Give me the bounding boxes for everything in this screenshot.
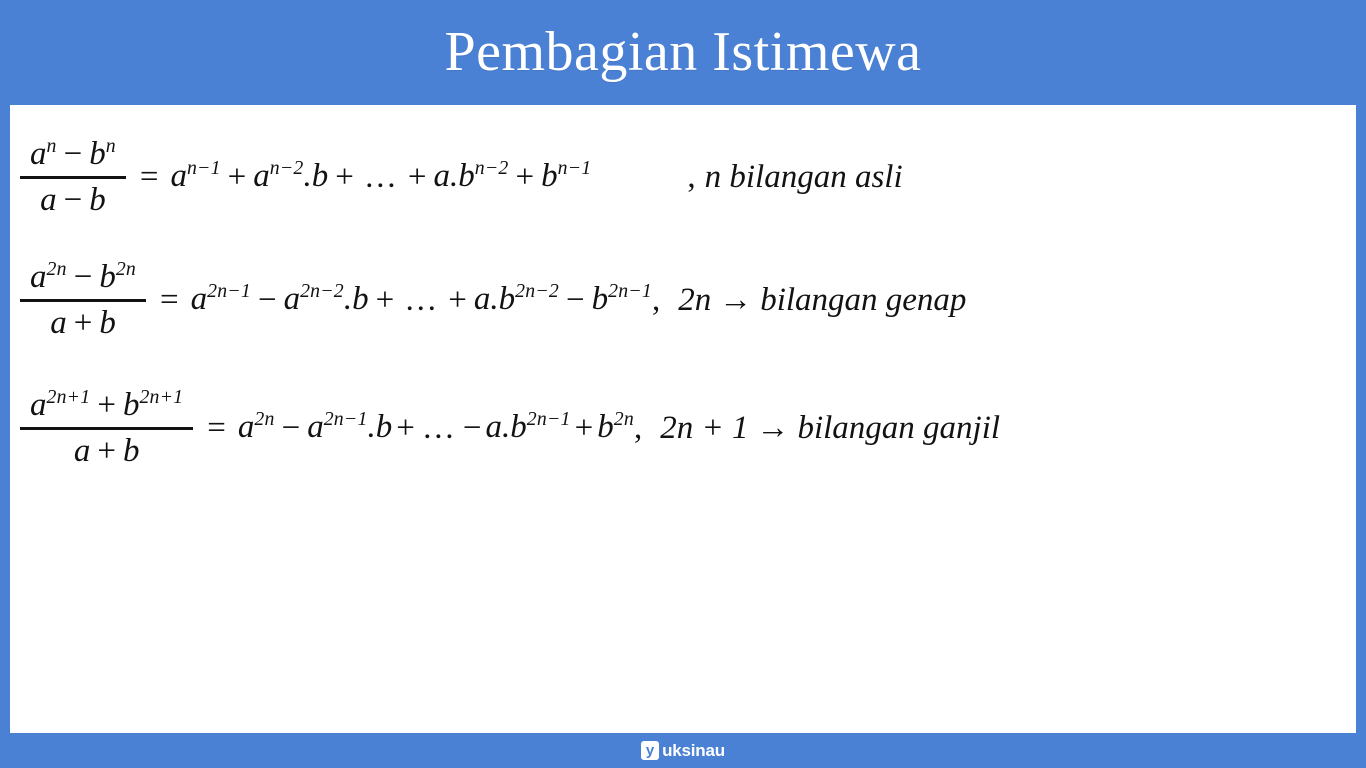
fraction-1: an−bn a−b [20, 135, 126, 220]
eq3-num-operator: + [90, 386, 123, 425]
eq3-term-4-exp: 2n [614, 408, 634, 430]
eq3-term-2-base: a [307, 409, 324, 445]
eq1-term-2-exp: n−2 [270, 157, 304, 179]
eq3-op-1: − [275, 410, 308, 447]
eq2-term-3: a.b2n−2 [474, 281, 559, 319]
eq2-term-4: b2n−1 [592, 281, 652, 319]
eq1-note: ,n bilangan asli [687, 159, 902, 196]
eq2-op-4: − [559, 282, 592, 319]
eq2-term-3-prefix: a. [474, 281, 499, 317]
page-title: Pembagian Istimewa [444, 24, 921, 80]
eq3-ellipsis: … [419, 410, 459, 447]
eq1-term-2-suffix: .b [304, 158, 329, 194]
eq2-term-4-exp: 2n−1 [608, 280, 652, 302]
eq3-term-3: a.b2n−1 [486, 409, 571, 447]
eq2-ellipsis: … [401, 282, 441, 319]
eq3-note-comma: , [634, 410, 642, 446]
eq3-note-lhs: 2n + 1 [660, 410, 748, 446]
eq2-term-2-exp: 2n−2 [300, 280, 344, 302]
fraction-3-numerator: a2n+1+b2n+1 [20, 386, 193, 425]
eq3-den-a: a [74, 433, 91, 471]
equation-list: an−bn a−b = an−1 + an−2.b + … + a.bn−2 +… [18, 118, 1348, 492]
fraction-3: a2n+1+b2n+1 a+b [20, 386, 193, 471]
eq1-den-a: a [40, 182, 57, 220]
eq3-note-text: bilangan ganjil [797, 410, 1000, 446]
eq1-term-1: an−1 [170, 158, 220, 196]
eq1-op-3: + [401, 159, 434, 196]
eq2-num-b-exp: 2n [116, 258, 136, 280]
eq2-num-operator: − [67, 258, 100, 297]
eq3-term-2-exp: 2n−1 [324, 408, 368, 430]
eq1-term-3-exp: n−2 [475, 157, 509, 179]
eq1-num-b-exp: n [106, 135, 116, 157]
fraction-2-bar [20, 299, 146, 302]
eq1-term-1-base: a [170, 158, 187, 194]
eq1-term-2-base: a [253, 158, 270, 194]
eq2-note-lhs: 2n [678, 282, 711, 318]
eq2-note-text: bilangan genap [760, 282, 966, 318]
eq1-term-4-exp: n−1 [558, 157, 592, 179]
fraction-2: a2n−b2n a+b [20, 258, 146, 343]
yuksinau-logo[interactable]: y uksinau [641, 741, 725, 760]
eq3-num-b-exp: 2n+1 [139, 386, 183, 408]
fraction-3-denominator: a+b [64, 432, 150, 471]
eq1-den-b: b [89, 182, 106, 220]
eq1-num-a: a [30, 136, 47, 172]
eq3-num-b: b [123, 387, 140, 423]
eq2-term-3-base: b [499, 281, 516, 317]
eq3-num-a-exp: 2n+1 [47, 386, 91, 408]
eq1-num-operator: − [57, 135, 90, 174]
eq3-op-2: + [392, 410, 419, 447]
eq1-op-2: + [328, 159, 361, 196]
eq2-term-2-suffix: .b [344, 281, 369, 317]
eq2-note: ,2n→bilangan genap [652, 282, 966, 319]
eq1-ellipsis: … [361, 159, 401, 196]
eq1-term-3-prefix: a. [434, 158, 459, 194]
equation-row-1: an−bn a−b = an−1 + an−2.b + … + a.bn−2 +… [18, 118, 1348, 236]
eq2-term-1: a2n−1 [191, 281, 251, 319]
eq3-term-4: b2n [597, 409, 634, 447]
eq3-term-3-exp: 2n−1 [527, 408, 571, 430]
eq3-term-4-base: b [597, 409, 614, 445]
eq2-term-1-base: a [191, 281, 208, 317]
eq1-term-3-base: b [458, 158, 475, 194]
eq1-note-text: n bilangan asli [705, 159, 903, 195]
eq1-term-1-exp: n−1 [187, 157, 221, 179]
eq3-den-operator: + [90, 432, 123, 471]
eq2-term-2: a2n−2.b [284, 281, 369, 319]
eq3-term-1: a2n [238, 409, 275, 447]
eq1-term-4-base: b [541, 158, 558, 194]
eq2-den-operator: + [67, 304, 100, 343]
equation-row-3: a2n+1+b2n+1 a+b = a2n − a2n−1.b + … − a.… [18, 364, 1348, 492]
eq3-op-4: + [571, 410, 598, 447]
eq2-num-a-exp: 2n [47, 258, 67, 280]
fraction-1-denominator: a−b [30, 181, 116, 220]
eq2-term-4-base: b [592, 281, 609, 317]
fraction-2-numerator: a2n−b2n [20, 258, 146, 297]
eq3-num-a: a [30, 387, 47, 423]
eq2-op-2: + [369, 282, 402, 319]
logo-text: uksinau [662, 742, 725, 759]
eq3-equals: = [195, 410, 238, 447]
right-arrow-icon: → [711, 282, 760, 319]
eq3-den-b: b [123, 433, 140, 471]
eq3-term-1-base: a [238, 409, 255, 445]
eq2-term-1-exp: 2n−1 [207, 280, 251, 302]
eq3-term-3-base: b [510, 409, 527, 445]
eq1-note-comma: , [687, 159, 695, 195]
equation-row-2: a2n−b2n a+b = a2n−1 − a2n−2.b + … + a.b2… [18, 236, 1348, 364]
eq1-op-1: + [221, 159, 254, 196]
eq2-term-3-exp: 2n−2 [515, 280, 559, 302]
eq3-term-3-prefix: a. [486, 409, 511, 445]
eq1-term-2: an−2.b [253, 158, 328, 196]
eq3-term-2-suffix: .b [368, 409, 393, 445]
logo-mark-icon: y [641, 741, 659, 760]
eq2-op-1: − [251, 282, 284, 319]
eq1-equals: = [128, 159, 171, 196]
eq1-op-4: + [509, 159, 542, 196]
right-arrow-icon: → [748, 410, 797, 447]
eq2-term-2-base: a [284, 281, 301, 317]
eq1-num-b: b [89, 136, 106, 172]
fraction-1-bar [20, 176, 126, 179]
eq1-den-operator: − [57, 181, 90, 220]
eq2-num-a: a [30, 259, 47, 295]
eq3-term-2: a2n−1.b [307, 409, 392, 447]
eq2-den-a: a [50, 305, 67, 343]
footer-bar: y uksinau [0, 733, 1366, 768]
eq2-num-b: b [99, 259, 116, 295]
title-band: Pembagian Istimewa [0, 0, 1366, 104]
eq1-term-4: bn−1 [541, 158, 591, 196]
fraction-2-denominator: a+b [40, 304, 126, 343]
eq2-den-b: b [99, 305, 116, 343]
eq1-term-3: a.bn−2 [434, 158, 509, 196]
eq1-num-a-exp: n [47, 135, 57, 157]
eq2-note-comma: , [652, 282, 660, 318]
fraction-1-numerator: an−bn [20, 135, 126, 174]
eq3-term-1-exp: 2n [254, 408, 274, 430]
slide: Pembagian Istimewa an−bn a−b = an−1 + an… [0, 0, 1366, 768]
eq2-op-3: + [441, 282, 474, 319]
eq3-op-3: − [459, 410, 486, 447]
fraction-3-bar [20, 427, 193, 430]
eq3-note: ,2n + 1→bilangan ganjil [634, 410, 1000, 447]
eq2-equals: = [148, 282, 191, 319]
